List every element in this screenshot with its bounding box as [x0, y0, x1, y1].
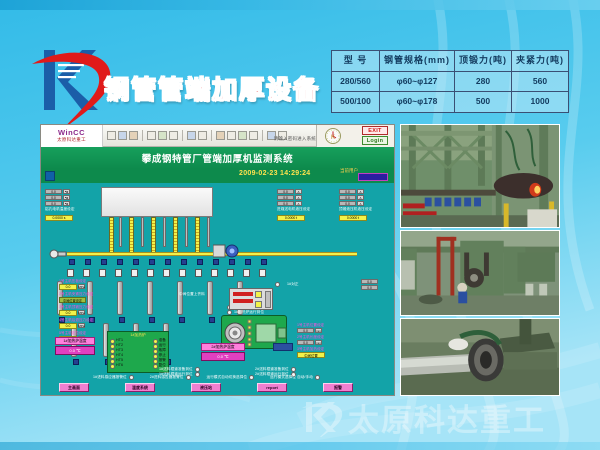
solenoid-icon[interactable] [179, 269, 186, 277]
current-user-field[interactable] [358, 173, 388, 181]
photo-machine-line [400, 230, 560, 316]
top-accent-strip [0, 0, 600, 10]
cell-upset-force: 280 [455, 71, 512, 91]
setpoint-unit: MPa [78, 284, 85, 289]
matrix-label: HT6 [116, 364, 123, 368]
wincc-logo: WinCC 太原科达重工 [41, 125, 103, 147]
cell-model: 500/100 [332, 92, 380, 112]
nav-button-temperature[interactable]: 温度系统 [125, 383, 155, 392]
hmi-title-bar: 攀成钢特管厂管端加厚机监测系统 [41, 147, 394, 169]
status-led [110, 349, 115, 354]
setpoint-item: 1号主机压板设定 0.0 MPa [59, 279, 93, 290]
value-row: 0.0 A [339, 189, 372, 194]
company-logo-icon [24, 38, 116, 126]
status-indicator-icon [45, 171, 55, 181]
status-led [275, 282, 280, 287]
unit-label: ℃ [63, 201, 70, 206]
unit-label: ℃ [63, 189, 70, 194]
unit-label: A [357, 201, 364, 206]
solenoid-icon[interactable] [115, 269, 122, 277]
valve-icon[interactable] [179, 317, 185, 323]
status-led [249, 375, 254, 380]
heater-column [151, 217, 156, 253]
status-led [186, 375, 191, 380]
status-led [153, 359, 158, 364]
cylinder [207, 281, 213, 315]
run-icon[interactable] [238, 131, 247, 140]
piston-rod [141, 217, 144, 247]
valve-icon[interactable] [101, 259, 107, 265]
heater-temp-value[interactable]: 0.0 ℃ [55, 346, 95, 355]
left-group-setpoint[interactable]: 0.0000 s [45, 215, 73, 221]
left-setpoint-list: 1号主机压板设定 0.0 MPa 2号主机夹紧压力设定 中间位置设定 3号主机顶… [59, 279, 93, 342]
setpoint-unit: MPa [78, 323, 85, 328]
pump-icon [49, 247, 67, 265]
table-row: 500/100 φ60~φ178 500 1000 [332, 92, 569, 112]
setpoint-value[interactable]: 中间位置设定 [59, 297, 86, 303]
heater-temp-2-value[interactable]: 0.0 ℃ [201, 352, 245, 361]
value-field[interactable]: 0.0 [45, 201, 62, 206]
valve-row-lower [67, 269, 266, 277]
matrix-right-column: 准备 运行 故障 停止 报警 复位 [153, 339, 166, 369]
heater-column [129, 217, 134, 253]
save-icon[interactable] [129, 131, 138, 140]
status-led [153, 364, 158, 369]
status-led [153, 344, 158, 349]
hmi-window[interactable]: WinCC 太原科达重工 请输入密码进入系统 [40, 124, 395, 396]
status-led [110, 354, 115, 359]
value-row: 0.0 ℃ [45, 189, 75, 194]
matrix-left-column: HT1 HT2 HT3 HT4 HT5 HT6 [110, 339, 123, 369]
setpoint-value[interactable]: 0.0 [59, 310, 77, 316]
right-value-group-2: 0.0 A 0.0 A 0.0 A 顶锻液压机液压设定 0.0000 t [339, 189, 372, 221]
value-field[interactable]: 0.0 [339, 201, 356, 206]
solenoid-icon[interactable] [195, 269, 202, 277]
value-field[interactable]: 0.0 [45, 195, 62, 200]
value-field[interactable]: 0.0 [277, 195, 294, 200]
bottom-accent-strip [0, 442, 600, 450]
setpoint-item: 4号主机后退压力设定 0.0 MPa [59, 318, 93, 329]
status-label: 2#进料感应器报警位 [150, 376, 184, 380]
value-row: 0.0 A [277, 195, 310, 200]
col-header-clamp-force: 夹紧力(吨) [512, 51, 569, 72]
hmi-toolbar[interactable]: WinCC 太原科达重工 请输入密码进入系统 [41, 125, 394, 147]
setpoint-value[interactable]: 0.0 [59, 284, 77, 290]
watermark-logo-icon [300, 397, 346, 437]
setpoint-value[interactable]: 0.0 [59, 323, 77, 329]
photo-pipe-end-closeup [400, 318, 560, 396]
valve-icon[interactable] [69, 259, 75, 265]
solenoid-icon[interactable] [131, 269, 138, 277]
status-label: 运行模式选择位 自动/手动 [270, 376, 313, 380]
stop-icon[interactable] [249, 131, 258, 140]
upsetter-tank [101, 187, 213, 217]
valve-icon[interactable] [197, 259, 203, 265]
valve-icon[interactable] [209, 317, 215, 323]
center-label: 中间位置上齐料 [179, 293, 205, 297]
valve-icon[interactable] [165, 259, 171, 265]
redo-icon[interactable] [198, 131, 207, 140]
table-header-row: 型 号 钢管规格(mm) 顶锻力(吨) 夹紧力(吨) [332, 51, 569, 72]
solenoid-icon[interactable] [211, 269, 218, 277]
right-group-2-title: 顶锻液压机液压设定 [339, 208, 372, 212]
cylinder [177, 281, 183, 315]
wincc-logo-text: WinCC [58, 129, 85, 137]
status-led [153, 354, 158, 359]
cell-clamp-force: 1000 [512, 92, 569, 112]
copy-icon[interactable] [158, 131, 167, 140]
piston-rod [163, 217, 166, 247]
toolbar-separator [211, 130, 212, 141]
clock-icon: K [321, 127, 345, 145]
value-field[interactable]: 0.0 [45, 189, 62, 194]
heater-column [195, 217, 200, 253]
toolbar-separator [142, 130, 143, 141]
hmi-status-bar: 2009-02-23 14:29:24 当前用户 [41, 169, 394, 183]
cylinder [147, 281, 153, 315]
unit-label: A [357, 195, 364, 200]
new-icon[interactable] [107, 131, 116, 140]
status-led [110, 364, 115, 369]
unit-label: A [357, 189, 364, 194]
status-label: 1#进料感应器报警位 [93, 376, 127, 380]
status-led [153, 349, 158, 354]
right-setpoint-list: 1号主机位置设定 0.0 mm 2号主机长度设定 0.0 mm 3号主机加热设定… [297, 323, 325, 358]
heater-column [173, 217, 178, 253]
unit-label: A [295, 201, 302, 206]
undo-icon[interactable] [187, 131, 196, 140]
unit-label: A [295, 189, 302, 194]
far-right-value-group: 0.0 0.0 [361, 279, 378, 291]
table-row: 280/560 φ60~φ127 280 560 [332, 71, 569, 91]
solenoid-icon[interactable] [163, 269, 170, 277]
right-group-2-setpoint[interactable]: 0.0000 t [339, 215, 367, 221]
col-header-upset-force: 顶锻力(吨) [455, 51, 512, 72]
piston-rod [185, 217, 188, 247]
setpoint-unit: mm [315, 340, 322, 345]
right-align-label: 1#对正 [287, 283, 299, 287]
heater-temp-panel: 1#加热炉温度 0.0 ℃ [55, 337, 95, 355]
status-label: 2#送料辊道准备到位 [255, 368, 289, 372]
valve-icon[interactable] [149, 317, 155, 323]
wincc-logo-subtext: 太原科达重工 [57, 138, 86, 143]
cell-clamp-force: 560 [512, 71, 569, 91]
zoom-icon[interactable] [227, 131, 236, 140]
photo-gallery [400, 124, 560, 396]
valve-icon[interactable] [261, 259, 267, 265]
brand-watermark: 太原科达重工 [300, 392, 600, 442]
status-led [110, 339, 115, 344]
left-value-group: 0.0 ℃ 0.0 ℃ 0.0 ℃ 铝孔电机温度设定 0.0000 s [45, 189, 75, 221]
heater-temp-title: 1#加热炉温度 [55, 337, 95, 345]
cell-upset-force: 500 [455, 92, 512, 112]
valve-icon[interactable] [181, 259, 187, 265]
watermark-text: 太原科达重工 [348, 395, 546, 440]
right-group-1-title: 进煤送电机液压设定 [277, 208, 310, 212]
cylinder [117, 281, 123, 315]
datetime-display: 2009-02-23 14:29:24 [239, 170, 310, 177]
value-row: 0.0 A [339, 195, 372, 200]
hmi-title-text: 攀成钢特管厂管端加厚机监测系统 [142, 151, 294, 165]
nav-button-hydraulic[interactable]: 液压站 [191, 383, 221, 392]
main-pipe-line [67, 252, 357, 256]
print-icon[interactable] [216, 131, 225, 140]
solenoid-icon[interactable] [83, 269, 90, 277]
unit-label: ℃ [63, 195, 70, 200]
cut-icon[interactable] [147, 131, 156, 140]
toolbar-note: 请输入密码进入系统 [274, 136, 316, 142]
solenoid-icon[interactable] [243, 269, 250, 277]
matrix-title: 1#加热炉 [110, 334, 166, 338]
setpoint-unit: mm [315, 328, 322, 333]
solenoid-icon[interactable] [147, 269, 154, 277]
col-header-model: 型 号 [332, 51, 380, 72]
bottom-button-bar[interactable]: 主画面 温度系统 液压站 report 报警 [59, 383, 379, 392]
setpoint-item: 1号主机位置设定 0.0 mm [297, 323, 325, 333]
status-led [110, 344, 115, 349]
heater-temp-2-title: 2#加热炉温度 [201, 343, 245, 351]
value-row: 0.0 A [277, 189, 310, 194]
right-value-group-1: 0.0 A 0.0 A 0.0 A 进煤送电机液压设定 0.0000 t [277, 189, 310, 221]
open-icon[interactable] [118, 131, 127, 140]
cell-pipe-spec: φ60~φ178 [380, 92, 455, 112]
cell-model: 280/560 [332, 71, 380, 91]
value-field[interactable]: 0.0 [277, 189, 294, 194]
toolbar-separator [262, 130, 263, 141]
valve-icon[interactable] [119, 317, 125, 323]
col-header-pipe-spec: 钢管规格(mm) [380, 51, 455, 72]
status-label: 运行模式自动切换选择位 [207, 376, 248, 380]
cell-pipe-spec: φ60~φ127 [380, 71, 455, 91]
hmi-mimic-diagram[interactable]: 0.0 ℃ 0.0 ℃ 0.0 ℃ 铝孔电机温度设定 0.0000 s 0.0 … [41, 183, 394, 396]
bottom-status-row: 1#进料感应器报警位 2#进料感应器报警位 运行模式自动切换选择位 运行模式选择… [93, 375, 320, 380]
solenoid-icon[interactable] [259, 269, 266, 277]
solenoid-icon[interactable] [99, 269, 106, 277]
exit-button[interactable]: EXIT [362, 126, 388, 135]
value-row: 0.0 ℃ [45, 195, 75, 200]
unit-label: A [295, 195, 302, 200]
solenoid-icon[interactable] [227, 269, 234, 277]
setpoint-item: 3号主机顶锻压力设定 0.0 MPa [59, 305, 93, 316]
nav-button-report[interactable]: report [257, 383, 287, 392]
value-field[interactable]: 0.0 [277, 201, 294, 206]
valve-icon[interactable] [73, 359, 79, 365]
toolbar-separator [182, 130, 183, 141]
photo-workshop-overview [400, 124, 560, 228]
page-title: 钢管管端加厚设备 [104, 70, 320, 106]
value-row: 0.0 ℃ [45, 201, 75, 206]
value-row: 0.0 A [339, 201, 372, 206]
setpoint-item: 2号主机长度设定 0.0 mm [297, 335, 325, 345]
status-led [315, 375, 320, 380]
value-field[interactable]: 0.0 [339, 189, 356, 194]
toolbar-right-pane: K EXIT Login [316, 125, 394, 147]
nav-button-alarm[interactable]: 报警 [323, 383, 353, 392]
setpoint-label: 2号主机夹紧压力设定 [59, 292, 93, 297]
nav-button-main[interactable]: 主画面 [59, 383, 89, 392]
valve-block [229, 288, 273, 310]
right-group-1-setpoint[interactable]: 0.0000 t [277, 215, 305, 221]
left-group-title: 铝孔电机温度设定 [45, 208, 75, 212]
sensor-block [273, 343, 293, 351]
value-field[interactable]: 0.0 [339, 195, 356, 200]
current-user-label: 当前用户 [340, 168, 358, 174]
solenoid-icon[interactable] [67, 269, 74, 277]
value-field[interactable]: 0.0 [361, 279, 378, 284]
setpoint-item: 3号主机加热设定 中间位置 [297, 347, 325, 358]
piston-rod [207, 217, 210, 247]
status-led [129, 375, 134, 380]
login-button[interactable]: Login [362, 136, 388, 145]
setpoint-item: 2号主机夹紧压力设定 中间位置设定 [59, 292, 93, 303]
setpoint-label: 3号主机加热设定 [297, 347, 325, 352]
paste-icon[interactable] [169, 131, 178, 140]
value-field[interactable]: 0.0 [361, 285, 378, 290]
heater-temp-panel-2: 2#加热炉温度 0.0 ℃ [201, 343, 245, 361]
valve-icon[interactable] [149, 259, 155, 265]
status-label: 1#送料辊道准备到位 [159, 368, 193, 372]
setpoint-unit: MPa [78, 310, 85, 315]
svg-text:K: K [331, 135, 335, 141]
valve-icon[interactable] [245, 259, 251, 265]
value-row: 0.0 A [277, 201, 310, 206]
status-label: 1#加热炉运行到位 [234, 311, 264, 315]
heater-column [109, 217, 114, 253]
status-led [153, 339, 158, 344]
motor-icon [213, 243, 239, 264]
spec-table: 型 号 钢管规格(mm) 顶锻力(吨) 夹紧力(吨) 280/560 φ60~φ… [331, 50, 569, 113]
setpoint-value[interactable]: 中间位置 [297, 352, 325, 358]
piston-rod [119, 217, 122, 247]
valve-icon[interactable] [133, 259, 139, 265]
valve-icon[interactable] [117, 259, 123, 265]
setpoint-value[interactable]: 0.0 [297, 340, 314, 345]
valve-icon[interactable] [85, 259, 91, 265]
setpoint-value[interactable]: 0.0 [297, 328, 314, 333]
status-led [110, 359, 115, 364]
